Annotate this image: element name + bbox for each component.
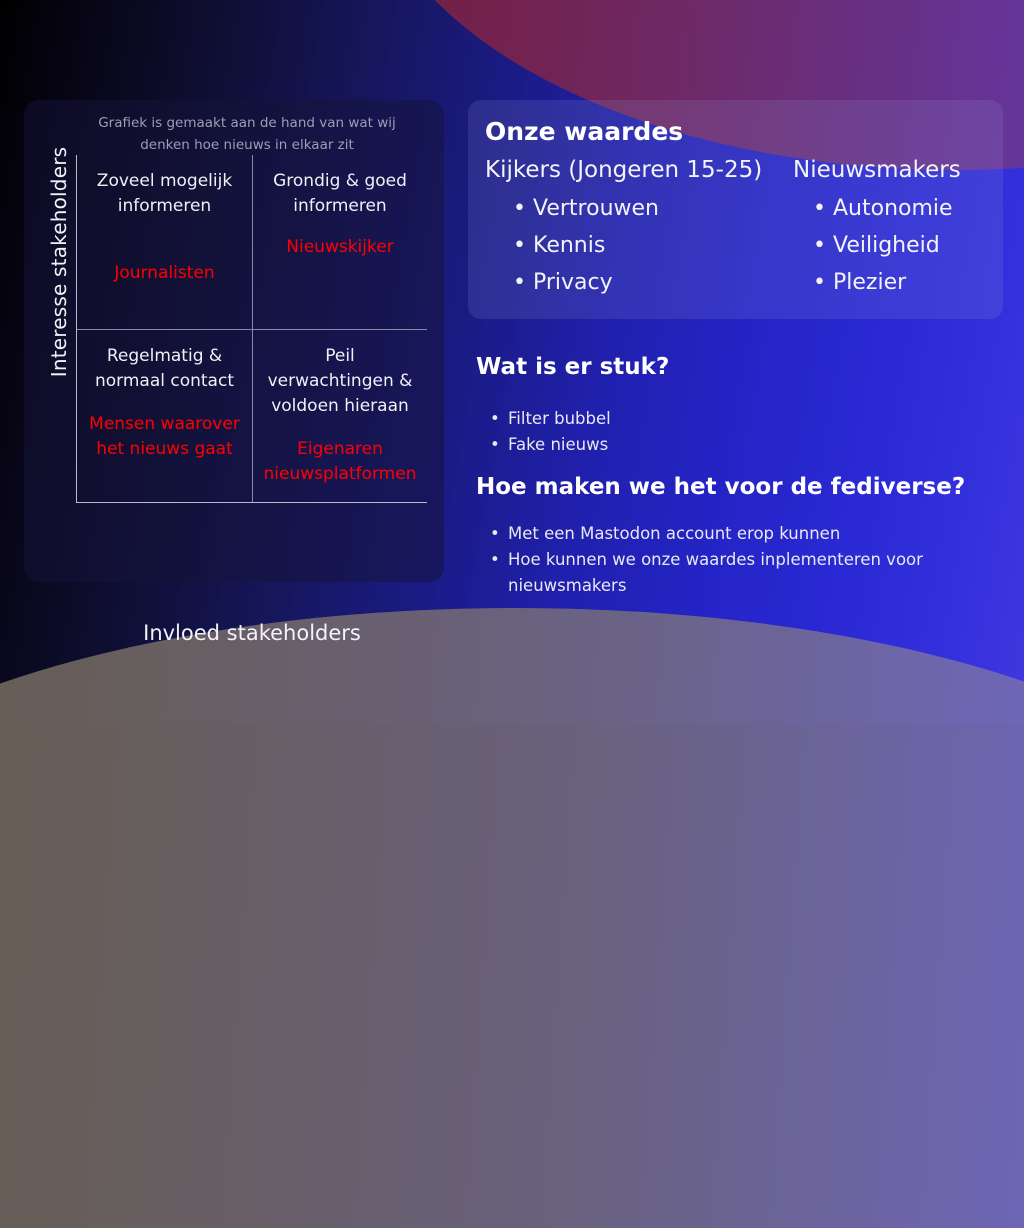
list-item: Veiligheid — [793, 227, 998, 264]
quadrant-top-left: Zoveel mogelijk informeren Journalisten — [77, 155, 252, 329]
values-card-title: Onze waardes — [485, 117, 683, 146]
y-axis-label: Interesse stakeholders — [47, 67, 71, 457]
quadrant-top-right: Grondig & goed informeren Nieuwskijker — [252, 155, 427, 329]
values-list: Autonomie Veiligheid Plezier — [793, 190, 998, 301]
broken-section-title: Wat is er stuk? — [476, 354, 669, 380]
quadrant-heading: Grondig & goed informeren — [253, 169, 427, 219]
quadrant-stakeholder-tag: Mensen waarover het nieuws gaat — [77, 412, 252, 462]
decorative-wave-bottom — [0, 608, 1024, 1228]
quadrant-heading: Regelmatig & normaal contact — [77, 344, 252, 394]
list-item: Vertrouwen — [485, 190, 785, 227]
fediverse-section-title: Hoe maken we het voor de fediverse? — [476, 474, 965, 500]
quadrant-stakeholder-tag: Nieuwskijker — [253, 235, 427, 260]
list-item: Plezier — [793, 264, 998, 301]
values-card: Onze waardes Kijkers (Jongeren 15-25) Ve… — [468, 100, 1003, 319]
quadrant-stakeholder-tag: Journalisten — [77, 261, 252, 286]
values-column-newsmakers: Nieuwsmakers Autonomie Veiligheid Plezie… — [793, 157, 998, 301]
quadrant-grid: Zoveel mogelijk informeren Journalisten … — [76, 155, 427, 503]
values-column-heading: Kijkers (Jongeren 15-25) — [485, 157, 785, 183]
list-item: Fake nieuws — [480, 432, 940, 458]
values-list: Vertrouwen Kennis Privacy — [485, 190, 785, 301]
values-column-viewers: Kijkers (Jongeren 15-25) Vertrouwen Kenn… — [485, 157, 785, 301]
list-item: Filter bubbel — [480, 406, 940, 432]
quadrant-heading: Zoveel mogelijk informeren — [77, 169, 252, 219]
list-item: Hoe kunnen we onze waardes inplementeren… — [480, 547, 950, 599]
quadrant-bottom-right: Peil verwachtingen & voldoen hieraan Eig… — [252, 329, 427, 503]
x-axis-label: Invloed stakeholders — [76, 621, 428, 645]
broken-section-list: Filter bubbel Fake nieuws — [480, 406, 940, 458]
stakeholder-matrix-card: Grafiek is gemaakt aan de hand van wat w… — [24, 100, 444, 582]
quadrant-bottom-left: Regelmatig & normaal contact Mensen waar… — [77, 329, 252, 503]
list-item: Met een Mastodon account erop kunnen — [480, 521, 950, 547]
fediverse-section-list: Met een Mastodon account erop kunnen Hoe… — [480, 521, 950, 599]
list-item: Kennis — [485, 227, 785, 264]
quadrant-stakeholder-tag: Eigenaren nieuwsplatformen — [253, 437, 427, 487]
quadrant-heading: Peil verwachtingen & voldoen hieraan — [253, 344, 427, 419]
list-item: Privacy — [485, 264, 785, 301]
chart-note: Grafiek is gemaakt aan de hand van wat w… — [82, 112, 412, 156]
list-item: Autonomie — [793, 190, 998, 227]
values-column-heading: Nieuwsmakers — [793, 157, 998, 183]
